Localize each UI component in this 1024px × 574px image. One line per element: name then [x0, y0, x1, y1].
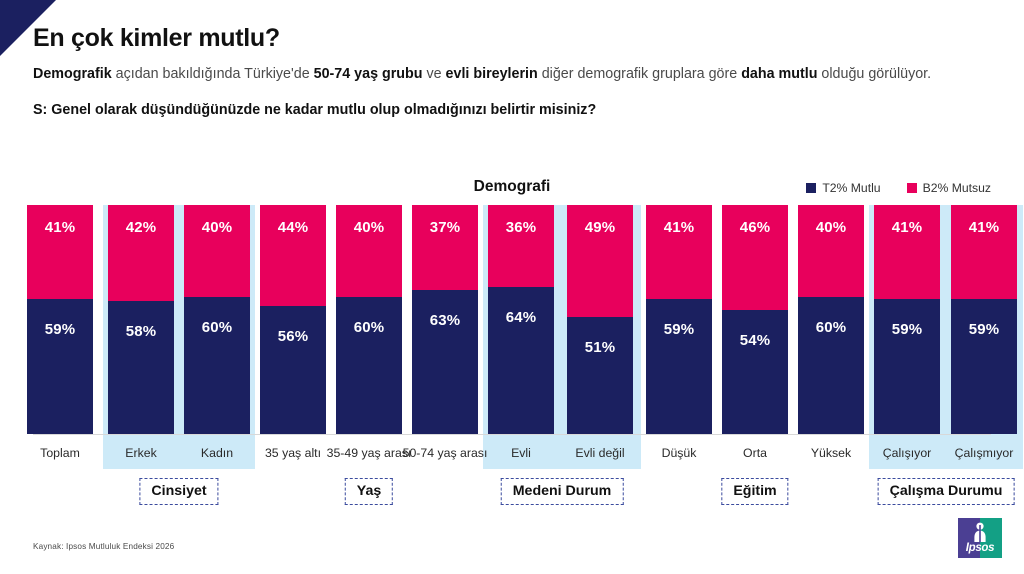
subtitle-fragment-1: açıdan bakıldığında Türkiye'de [112, 66, 314, 82]
bar-value-label: 41% [664, 219, 695, 299]
legend-label: B2% Mutsuz [923, 181, 991, 195]
category-label: Erkek [98, 446, 184, 462]
bar-column[interactable]: 40%60%Yüksek [793, 205, 869, 510]
chart-container: Demografi T2% MutluB2% Mutsuz 41%59%Topl… [0, 170, 1024, 510]
stacked-bar[interactable]: 40%60% [336, 205, 402, 434]
subtitle-fragment-4: evli bireylerin [446, 66, 538, 82]
bar-segment-mutsuz[interactable]: 36% [488, 205, 554, 287]
bar-segment-mutlu[interactable]: 59% [874, 299, 940, 434]
bar-columns: 41%59%Toplam42%58%Erkek40%60%Kadın44%56%… [17, 205, 1007, 510]
page-title: En çok kimler mutlu? [33, 24, 993, 53]
bar-segment-mutsuz[interactable]: 40% [798, 205, 864, 297]
bar-column[interactable]: 41%59%Çalışıyor [869, 205, 945, 510]
category-label: 35-49 yaş arası [326, 446, 412, 462]
bar-segment-mutlu[interactable]: 58% [108, 301, 174, 434]
bar-column[interactable]: 41%59%Çalışmıyor [945, 205, 1023, 510]
bar-value-label: 41% [45, 219, 76, 299]
subtitle-fragment-2: 50-74 yaş grubu [314, 66, 423, 82]
legend-label: T2% Mutlu [822, 181, 880, 195]
logo-profile-icon [973, 522, 987, 542]
group-tag[interactable]: Çalışma Durumu [878, 478, 1015, 505]
bar-segment-mutsuz[interactable]: 46% [722, 205, 788, 310]
header: En çok kimler mutlu? Demografik açıdan b… [33, 24, 993, 118]
bar-value-label: 46% [740, 219, 771, 310]
subtitle-fragment-6: daha mutlu [741, 66, 817, 82]
stacked-bar[interactable]: 36%64% [488, 205, 554, 434]
subtitle-fragment-5: diğer demografik gruplara göre [538, 66, 741, 82]
stacked-bar[interactable]: 41%59% [951, 205, 1017, 434]
category-label: Toplam [17, 446, 103, 462]
bar-segment-mutlu[interactable]: 60% [336, 297, 402, 434]
chart-plot: 41%59%Toplam42%58%Erkek40%60%Kadın44%56%… [17, 205, 1007, 510]
legend-item[interactable]: T2% Mutlu [806, 181, 880, 195]
source-note: Kaynak: Ipsos Mutluluk Endeksi 2026 [33, 542, 174, 551]
subtitle: Demografik açıdan bakıldığında Türkiye'd… [33, 64, 973, 86]
bar-value-label: 59% [892, 321, 923, 434]
group-tag[interactable]: Yaş [345, 478, 393, 505]
bar-value-label: 40% [202, 219, 233, 297]
bar-segment-mutlu[interactable]: 59% [27, 299, 93, 434]
chart-legend: T2% MutluB2% Mutsuz [806, 181, 991, 195]
bar-column[interactable]: 42%58%Erkek [103, 205, 179, 510]
category-label: Yüksek [788, 446, 874, 462]
subtitle-fragment-3: ve [423, 66, 446, 82]
bar-segment-mutsuz[interactable]: 37% [412, 205, 478, 290]
category-label: Orta [712, 446, 798, 462]
stacked-bar[interactable]: 40%60% [184, 205, 250, 434]
bar-column[interactable]: 49%51%Evli değil [559, 205, 641, 510]
group-tag[interactable]: Medeni Durum [501, 478, 624, 505]
legend-item[interactable]: B2% Mutsuz [907, 181, 991, 195]
bar-value-label: 44% [278, 219, 309, 306]
group-tag[interactable]: Eğitim [721, 478, 788, 505]
bar-segment-mutlu[interactable]: 60% [184, 297, 250, 434]
logo-wordmark: Ipsos [958, 542, 1002, 554]
bar-value-label: 60% [816, 319, 847, 434]
category-label: Kadın [174, 446, 260, 462]
bar-segment-mutsuz[interactable]: 41% [646, 205, 712, 299]
bar-value-label: 40% [816, 219, 847, 297]
bar-segment-mutlu[interactable]: 56% [260, 306, 326, 434]
bar-column[interactable]: 41%59%Düşük [641, 205, 717, 510]
bar-value-label: 59% [45, 321, 76, 434]
bar-segment-mutlu[interactable]: 54% [722, 310, 788, 434]
bar-segment-mutlu[interactable]: 60% [798, 297, 864, 434]
bar-value-label: 41% [892, 219, 923, 299]
bar-value-label: 36% [506, 219, 537, 287]
group-tag[interactable]: Cinsiyet [139, 478, 218, 505]
bar-column[interactable]: 37%63%50-74 yaş arası [407, 205, 483, 510]
survey-question: S: Genel olarak düşündüğünüzde ne kadar … [33, 102, 993, 118]
bar-segment-mutlu[interactable]: 59% [951, 299, 1017, 434]
bar-value-label: 58% [126, 323, 157, 434]
bar-segment-mutlu[interactable]: 51% [567, 317, 633, 434]
bar-value-label: 42% [126, 219, 157, 301]
bar-column[interactable]: 46%54%Orta [717, 205, 793, 510]
bar-segment-mutlu[interactable]: 64% [488, 287, 554, 434]
bar-value-label: 63% [430, 312, 461, 434]
bar-segment-mutsuz[interactable]: 41% [951, 205, 1017, 299]
bar-segment-mutsuz[interactable]: 42% [108, 205, 174, 301]
stacked-bar[interactable]: 41%59% [874, 205, 940, 434]
category-label: Evli [478, 446, 564, 462]
stacked-bar[interactable]: 40%60% [798, 205, 864, 434]
category-label: Evli değil [557, 446, 643, 462]
bar-value-label: 59% [664, 321, 695, 434]
bar-segment-mutsuz[interactable]: 44% [260, 205, 326, 306]
stacked-bar[interactable]: 44%56% [260, 205, 326, 434]
bar-value-label: 41% [969, 219, 1000, 299]
category-label: Düşük [636, 446, 722, 462]
stacked-bar[interactable]: 42%58% [108, 205, 174, 434]
category-label: 35 yaş altı [250, 446, 336, 462]
bar-value-label: 59% [969, 321, 1000, 434]
stacked-bar[interactable]: 49%51% [567, 205, 633, 434]
legend-swatch-icon [806, 183, 816, 193]
bar-column[interactable]: 41%59%Toplam [17, 205, 103, 510]
bar-value-label: 60% [202, 319, 233, 434]
stacked-bar[interactable]: 41%59% [646, 205, 712, 434]
category-label: Çalışmıyor [941, 446, 1024, 462]
legend-swatch-icon [907, 183, 917, 193]
bar-value-label: 56% [278, 328, 309, 434]
bar-column[interactable]: 36%64%Evli [483, 205, 559, 510]
bar-segment-mutsuz[interactable]: 41% [27, 205, 93, 299]
category-label: 50-74 yaş arası [402, 446, 488, 462]
bar-segment-mutsuz[interactable]: 40% [184, 205, 250, 297]
bar-segment-mutsuz[interactable]: 49% [567, 205, 633, 317]
bar-value-label: 51% [585, 339, 616, 434]
bar-column[interactable]: 44%56%35 yaş altı [255, 205, 331, 510]
group-tag-row: CinsiyetYaşMedeni DurumEğitimÇalışma Dur… [17, 478, 1007, 508]
bar-value-label: 64% [506, 309, 537, 434]
subtitle-fragment-7: olduğu görülüyor. [817, 66, 931, 82]
bar-segment-mutsuz[interactable]: 40% [336, 205, 402, 297]
stacked-bar[interactable]: 41%59% [27, 205, 93, 434]
category-label: Çalışıyor [864, 446, 950, 462]
stacked-bar[interactable]: 37%63% [412, 205, 478, 434]
bar-column[interactable]: 40%60%Kadın [179, 205, 255, 510]
bar-segment-mutlu[interactable]: 59% [646, 299, 712, 434]
bar-segment-mutsuz[interactable]: 41% [874, 205, 940, 299]
bar-value-label: 37% [430, 219, 461, 290]
bar-segment-mutlu[interactable]: 63% [412, 290, 478, 434]
ipsos-logo: Ipsos [958, 518, 1002, 562]
subtitle-fragment-0: Demografik [33, 66, 112, 82]
bar-value-label: 60% [354, 319, 385, 434]
bar-value-label: 54% [740, 332, 771, 434]
stacked-bar[interactable]: 46%54% [722, 205, 788, 434]
bar-column[interactable]: 40%60%35-49 yaş arası [331, 205, 407, 510]
bar-value-label: 49% [585, 219, 616, 317]
bar-value-label: 40% [354, 219, 385, 297]
